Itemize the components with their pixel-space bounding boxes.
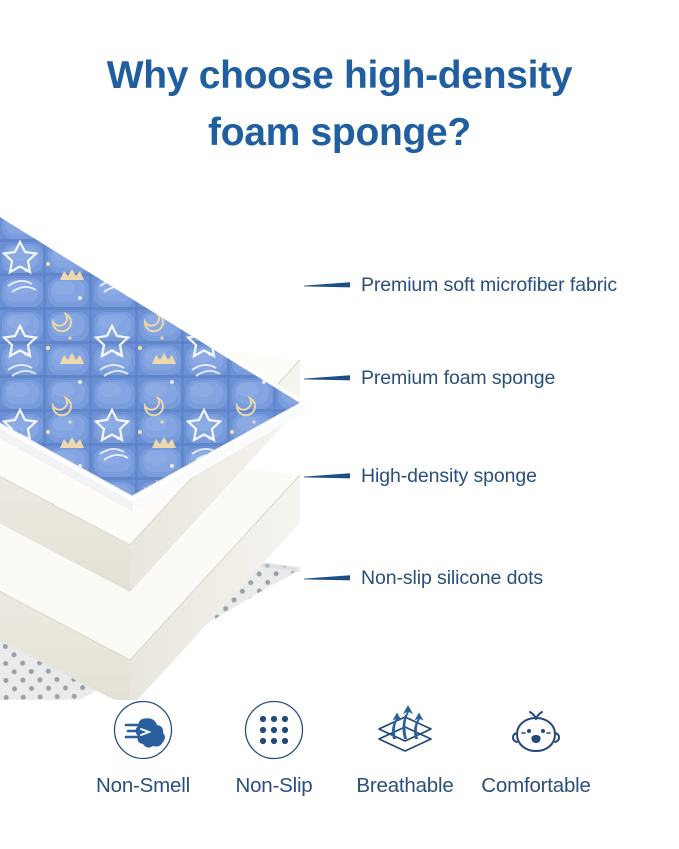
non-slip-dots-icon: [243, 694, 305, 766]
exploded-mattress-illustration: [0, 140, 420, 700]
callout-high-density-foam: High-density sponge: [304, 461, 537, 491]
feature-non-smell: Non-Smell: [78, 694, 209, 798]
leader-line-icon: [304, 470, 352, 482]
callout-label: Premium soft microfiber fabric: [361, 274, 617, 297]
callout-label: Premium foam sponge: [361, 367, 555, 390]
callout-microfiber-fabric: Premium soft microfiber fabric: [304, 270, 617, 300]
layer-microfiber-fabric: [0, 170, 330, 512]
baby-face-icon: [505, 694, 567, 766]
feature-label: Non-Slip: [235, 774, 312, 798]
leader-line-icon: [304, 279, 352, 291]
page-title-line-1: Why choose high-density: [0, 48, 679, 105]
callout-label: Non-slip silicone dots: [361, 567, 543, 590]
feature-label: Comfortable: [481, 774, 590, 798]
leader-line-icon: [304, 572, 352, 584]
non-smell-icon: [112, 694, 174, 766]
feature-label: Breathable: [356, 774, 453, 798]
feature-label: Non-Smell: [96, 774, 190, 798]
feature-row: Non-Smell Non-Slip: [0, 694, 679, 798]
infographic-page: Why choose high-density foam sponge?: [0, 0, 679, 849]
feature-non-slip: Non-Slip: [209, 694, 340, 798]
feature-comfortable: Comfortable: [471, 694, 602, 798]
callout-premium-foam: Premium foam sponge: [304, 363, 555, 393]
feature-breathable: Breathable: [340, 694, 471, 798]
breathable-airflow-icon: [371, 694, 439, 766]
callout-silicone-dots: Non-slip silicone dots: [304, 563, 543, 593]
callout-label: High-density sponge: [361, 465, 537, 488]
leader-line-icon: [304, 372, 352, 384]
